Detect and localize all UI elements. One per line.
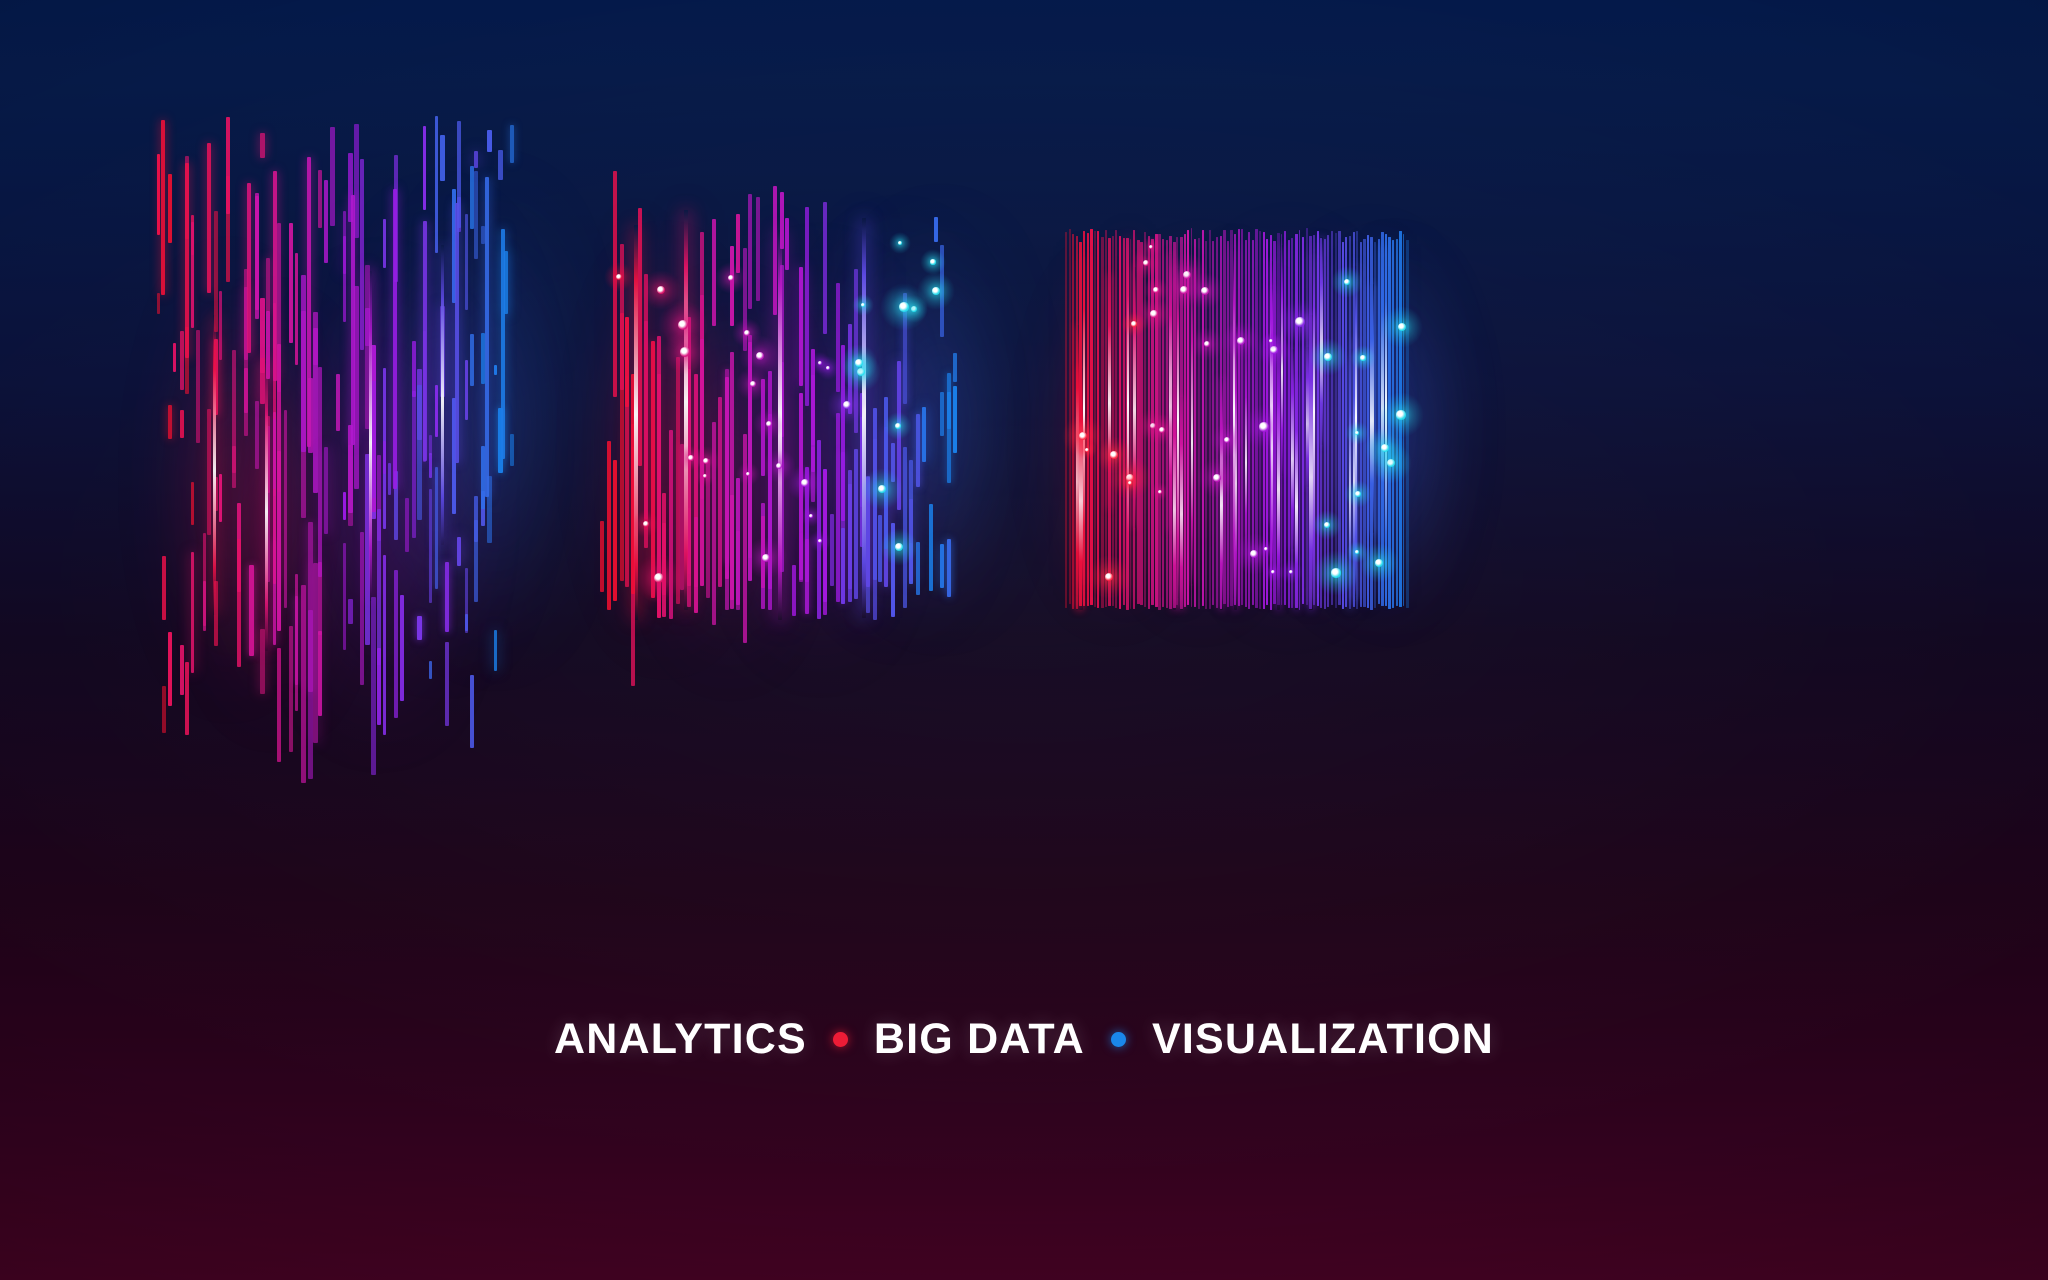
data-bar xyxy=(891,443,895,482)
data-point xyxy=(657,286,665,294)
data-bar xyxy=(1187,230,1189,605)
data-bar xyxy=(351,195,355,445)
data-bar xyxy=(1148,236,1150,609)
data-bar xyxy=(191,222,194,328)
data-bar xyxy=(607,441,611,610)
data-bar xyxy=(638,208,642,466)
data-bar xyxy=(1363,239,1366,607)
data-bar xyxy=(207,143,211,293)
data-bar xyxy=(736,214,740,273)
data-bar xyxy=(718,397,722,587)
data-bar xyxy=(465,214,468,310)
data-bar xyxy=(613,460,617,601)
data-bar xyxy=(706,459,710,598)
data-bar xyxy=(1216,237,1218,608)
caption-row: ANALYTICS BIG DATA VISUALIZATION xyxy=(0,1018,2048,1061)
data-bar xyxy=(848,470,852,602)
data-bar xyxy=(388,463,391,495)
data-point xyxy=(1375,559,1383,567)
cluster-scattered xyxy=(155,125,515,725)
data-bar xyxy=(301,585,306,783)
data-bar xyxy=(823,471,827,615)
data-bar xyxy=(343,236,346,322)
data-bar xyxy=(730,246,734,326)
data-bar xyxy=(669,430,673,619)
data-bar xyxy=(219,291,222,360)
data-bar xyxy=(1263,232,1265,609)
data-bar-core xyxy=(369,271,372,601)
data-bar xyxy=(207,409,211,535)
data-bar xyxy=(1317,231,1319,606)
data-bar-highlight xyxy=(1349,357,1351,610)
data-bar xyxy=(929,504,933,591)
data-bar xyxy=(301,275,306,452)
data-bar-core xyxy=(1083,256,1085,586)
data-bar xyxy=(1072,234,1074,609)
data-bar-highlight xyxy=(1180,397,1183,610)
data-bar xyxy=(412,391,416,538)
data-bar xyxy=(377,648,381,725)
data-bar xyxy=(168,405,172,439)
data-point xyxy=(932,287,939,294)
caption-word-big-data: BIG DATA xyxy=(874,1018,1085,1061)
data-bar xyxy=(761,379,765,476)
data-bar xyxy=(435,467,438,589)
data-bar xyxy=(748,194,752,309)
data-bar xyxy=(474,151,478,168)
data-bar xyxy=(916,414,920,487)
data-bar xyxy=(1299,230,1301,610)
data-bar xyxy=(157,293,160,314)
data-bar xyxy=(878,515,882,582)
data-bar xyxy=(1140,242,1142,605)
data-bar xyxy=(330,127,335,226)
data-bar xyxy=(1273,241,1275,604)
data-bar xyxy=(273,171,277,381)
data-bar xyxy=(1130,239,1132,609)
data-bar xyxy=(324,447,328,534)
data-bar xyxy=(1327,235,1329,607)
data-bar xyxy=(289,223,293,343)
data-bar xyxy=(866,476,870,613)
data-bar xyxy=(922,407,926,462)
data-point xyxy=(895,423,901,429)
data-bar xyxy=(494,630,497,671)
data-bar xyxy=(498,150,503,180)
data-bar xyxy=(1209,230,1212,609)
data-bar xyxy=(232,446,236,473)
data-bar xyxy=(657,336,661,603)
data-bar xyxy=(940,544,944,588)
data-bar xyxy=(1212,241,1214,605)
data-bar xyxy=(266,258,270,312)
data-bar xyxy=(348,599,353,624)
data-bar xyxy=(435,116,438,253)
data-bar-highlight xyxy=(1169,254,1172,531)
data-bar xyxy=(1194,239,1196,607)
data-bar-highlight xyxy=(1133,267,1136,528)
data-bar xyxy=(162,686,166,733)
data-bar xyxy=(725,369,729,564)
separator-dot-blue-icon xyxy=(1111,1032,1126,1047)
data-bar xyxy=(1166,240,1168,608)
data-point xyxy=(857,368,865,376)
data-bar xyxy=(371,597,376,775)
data-bar xyxy=(474,171,478,259)
data-bar xyxy=(830,514,834,586)
data-bar-core xyxy=(265,361,268,651)
data-bar xyxy=(836,283,840,392)
data-bar xyxy=(377,509,381,665)
data-bar xyxy=(884,397,888,549)
data-bar xyxy=(953,386,957,453)
data-point xyxy=(1324,522,1330,528)
data-bar xyxy=(383,441,386,474)
data-bar xyxy=(761,516,765,588)
data-bar xyxy=(620,244,624,390)
data-bar-core xyxy=(862,218,866,618)
data-bar xyxy=(180,410,184,438)
data-bar xyxy=(841,345,845,521)
data-bar xyxy=(429,489,432,603)
data-bar xyxy=(277,648,281,762)
data-bar xyxy=(318,367,322,577)
data-bar xyxy=(891,523,895,617)
data-bar xyxy=(501,229,505,459)
data-bar xyxy=(1090,229,1093,605)
data-bar xyxy=(185,163,189,358)
data-bar xyxy=(429,661,432,679)
data-bar xyxy=(823,202,827,334)
data-bar xyxy=(768,414,772,610)
data-bar xyxy=(1241,229,1243,605)
data-bar-core xyxy=(1385,244,1387,599)
data-bar xyxy=(873,408,877,580)
data-bar xyxy=(1302,237,1304,604)
data-bar xyxy=(756,197,760,301)
data-bar xyxy=(324,180,328,263)
data-point xyxy=(688,455,693,460)
data-point xyxy=(1180,286,1188,294)
data-bar xyxy=(237,539,241,667)
data-bar xyxy=(457,537,461,566)
data-bar xyxy=(773,186,777,315)
data-bar xyxy=(249,565,254,656)
data-bar xyxy=(712,422,716,625)
data-bar xyxy=(465,568,468,633)
data-bar xyxy=(214,211,218,332)
caption-word-visualization: VISUALIZATION xyxy=(1152,1018,1494,1061)
data-bar xyxy=(1087,233,1090,606)
data-bar-highlight xyxy=(1381,246,1384,542)
data-bar xyxy=(811,349,815,472)
data-bar xyxy=(947,539,951,597)
data-bar xyxy=(947,373,951,483)
data-point xyxy=(1110,451,1117,458)
data-point xyxy=(1270,346,1277,353)
data-bar xyxy=(318,631,322,716)
data-point xyxy=(643,521,649,527)
data-bar xyxy=(180,331,184,390)
data-point xyxy=(750,381,757,388)
data-bar xyxy=(191,552,194,673)
data-point xyxy=(1355,550,1360,555)
data-bar xyxy=(474,496,478,542)
data-bar xyxy=(405,498,409,552)
data-bar xyxy=(841,528,845,604)
data-point xyxy=(1153,287,1158,292)
data-point xyxy=(1269,339,1273,343)
data-point xyxy=(744,330,750,336)
data-bar-highlight xyxy=(1191,271,1193,584)
data-bar xyxy=(445,642,449,726)
data-point xyxy=(654,573,664,583)
data-point xyxy=(1324,353,1332,361)
data-bar-highlight xyxy=(1076,325,1079,610)
data-bar xyxy=(455,203,459,463)
data-bar xyxy=(465,360,468,420)
data-bar xyxy=(799,267,803,386)
data-bar-core xyxy=(441,245,444,545)
data-bar xyxy=(295,574,298,711)
data-bar xyxy=(725,557,729,610)
data-point xyxy=(1355,491,1361,497)
data-bar xyxy=(1342,242,1344,609)
data-point xyxy=(1271,570,1275,574)
data-point xyxy=(826,366,831,371)
data-point xyxy=(1396,410,1405,419)
data-point xyxy=(756,352,764,360)
data-point xyxy=(1158,490,1162,494)
data-bar xyxy=(343,492,346,520)
data-bar xyxy=(168,632,172,706)
data-bar xyxy=(383,219,386,268)
data-bar xyxy=(487,130,492,152)
data-point xyxy=(818,539,822,543)
data-bar xyxy=(1158,234,1160,610)
data-bar xyxy=(343,543,346,650)
data-bar xyxy=(157,154,160,235)
data-bar xyxy=(485,177,489,497)
data-bar xyxy=(295,253,298,365)
data-bar-highlight xyxy=(1108,274,1111,509)
data-point xyxy=(1295,317,1304,326)
data-bar xyxy=(1198,238,1200,609)
data-bar xyxy=(1123,238,1125,605)
data-bar xyxy=(1112,236,1115,606)
data-bar xyxy=(168,174,172,243)
data-point xyxy=(1201,287,1209,295)
data-bar xyxy=(383,555,386,735)
data-bar xyxy=(1392,240,1394,608)
data-bar xyxy=(1403,234,1405,606)
data-point xyxy=(1150,310,1157,317)
data-bar xyxy=(277,223,281,392)
data-point xyxy=(911,306,917,312)
data-point xyxy=(1131,321,1136,326)
data-bar xyxy=(1378,239,1381,604)
data-point xyxy=(899,302,909,312)
data-bar xyxy=(1205,241,1207,609)
data-bar xyxy=(226,117,230,214)
data-bar xyxy=(162,556,166,620)
data-bar xyxy=(1101,237,1104,608)
data-bar xyxy=(694,517,698,613)
data-bar xyxy=(423,221,427,461)
data-bar xyxy=(940,392,944,436)
data-bar xyxy=(470,675,474,748)
data-bar xyxy=(1406,240,1408,608)
data-bar xyxy=(1105,230,1107,607)
data-bar xyxy=(662,493,666,583)
data-point xyxy=(680,347,689,356)
data-point xyxy=(1331,568,1340,577)
data-bar-highlight xyxy=(1220,378,1223,610)
data-bar-highlight xyxy=(1281,245,1283,476)
data-bar xyxy=(836,413,840,602)
data-bar xyxy=(417,616,422,640)
data-point xyxy=(1079,432,1087,440)
data-bar xyxy=(903,447,907,608)
data-bar xyxy=(940,245,944,337)
data-bar xyxy=(625,376,629,587)
data-bar-core xyxy=(684,210,688,610)
data-bar xyxy=(1360,242,1363,607)
data-bar xyxy=(284,410,287,608)
data-bar xyxy=(1115,230,1117,608)
data-point xyxy=(678,320,688,330)
data-bar xyxy=(613,171,617,397)
data-bar xyxy=(1324,239,1326,609)
data-bar xyxy=(953,353,957,382)
data-bar xyxy=(336,374,340,431)
data-bar xyxy=(1388,237,1390,609)
data-bar xyxy=(600,521,604,592)
data-bar xyxy=(1396,239,1398,606)
data-bar xyxy=(934,217,938,242)
data-bar-highlight xyxy=(1291,349,1293,549)
data-bar xyxy=(393,189,397,489)
data-bar xyxy=(273,419,276,489)
data-bar xyxy=(909,499,913,581)
data-bar xyxy=(817,440,821,619)
data-bar-core xyxy=(213,315,216,615)
data-bar-core xyxy=(634,225,638,620)
data-bar xyxy=(394,570,398,718)
data-bar xyxy=(1338,231,1341,605)
data-point xyxy=(1128,481,1132,485)
data-bar xyxy=(1119,236,1121,609)
data-bar xyxy=(1288,240,1290,608)
data-bar xyxy=(260,133,265,158)
data-bar xyxy=(1097,231,1099,608)
data-bar xyxy=(854,449,858,599)
data-bar xyxy=(1345,237,1347,607)
data-point xyxy=(1237,337,1245,345)
data-bar-highlight xyxy=(1320,237,1323,445)
data-bar xyxy=(736,531,740,610)
data-bar xyxy=(185,662,189,735)
data-bar xyxy=(1331,231,1333,605)
data-bar xyxy=(712,219,716,326)
data-bar xyxy=(318,170,322,228)
data-bar xyxy=(255,193,259,319)
data-bar xyxy=(435,385,438,437)
data-bar-core xyxy=(778,230,782,620)
data-bar xyxy=(1069,229,1071,604)
data-bar xyxy=(1094,231,1096,607)
data-bar xyxy=(1284,231,1286,605)
data-point xyxy=(895,543,903,551)
data-point xyxy=(809,514,813,518)
data-bar xyxy=(173,343,176,372)
data-bar xyxy=(748,335,752,558)
cluster-glow xyxy=(370,205,510,665)
data-bar xyxy=(423,126,426,210)
data-bar xyxy=(1137,240,1140,604)
data-bar xyxy=(307,157,311,447)
data-bar xyxy=(196,330,200,443)
data-point xyxy=(930,259,935,264)
data-bar xyxy=(1144,232,1146,607)
data-bar xyxy=(440,135,445,181)
data-bar-highlight xyxy=(1277,342,1280,610)
data-bar-core xyxy=(1313,252,1315,600)
data-bar xyxy=(1065,232,1067,608)
data-bar xyxy=(1335,233,1337,608)
data-bar xyxy=(429,435,432,455)
data-bar xyxy=(412,341,416,397)
data-point xyxy=(843,401,851,409)
data-bar xyxy=(805,539,809,614)
data-bar xyxy=(1367,235,1369,608)
data-bar xyxy=(510,125,514,163)
data-bar xyxy=(644,321,648,519)
data-bar xyxy=(1238,229,1241,606)
data-bar xyxy=(730,352,734,609)
data-point xyxy=(1213,474,1221,482)
data-bar-highlight xyxy=(1295,380,1298,610)
cluster-grouped xyxy=(600,170,958,620)
data-point xyxy=(818,361,822,365)
data-point xyxy=(1264,547,1268,551)
data-bar xyxy=(651,341,655,598)
data-bar xyxy=(1162,239,1164,607)
data-bar xyxy=(625,317,629,407)
data-bar xyxy=(191,482,194,525)
data-bar xyxy=(1259,231,1261,609)
data-bar xyxy=(792,565,796,616)
data-point xyxy=(1159,427,1165,433)
data-bar xyxy=(854,269,858,433)
data-bar xyxy=(400,595,404,701)
data-point xyxy=(898,241,902,245)
data-bar xyxy=(743,434,747,643)
data-bar xyxy=(510,434,514,466)
data-point xyxy=(616,274,622,280)
data-bar xyxy=(897,361,901,510)
data-bar xyxy=(203,581,206,631)
data-point xyxy=(1360,355,1365,360)
data-bar xyxy=(429,453,432,478)
data-bar xyxy=(1374,242,1376,608)
data-bar xyxy=(219,474,222,522)
data-bar xyxy=(805,207,809,406)
data-bar xyxy=(470,334,474,386)
data-bar xyxy=(360,532,364,685)
data-bar xyxy=(289,626,293,752)
data-bar xyxy=(916,542,920,595)
